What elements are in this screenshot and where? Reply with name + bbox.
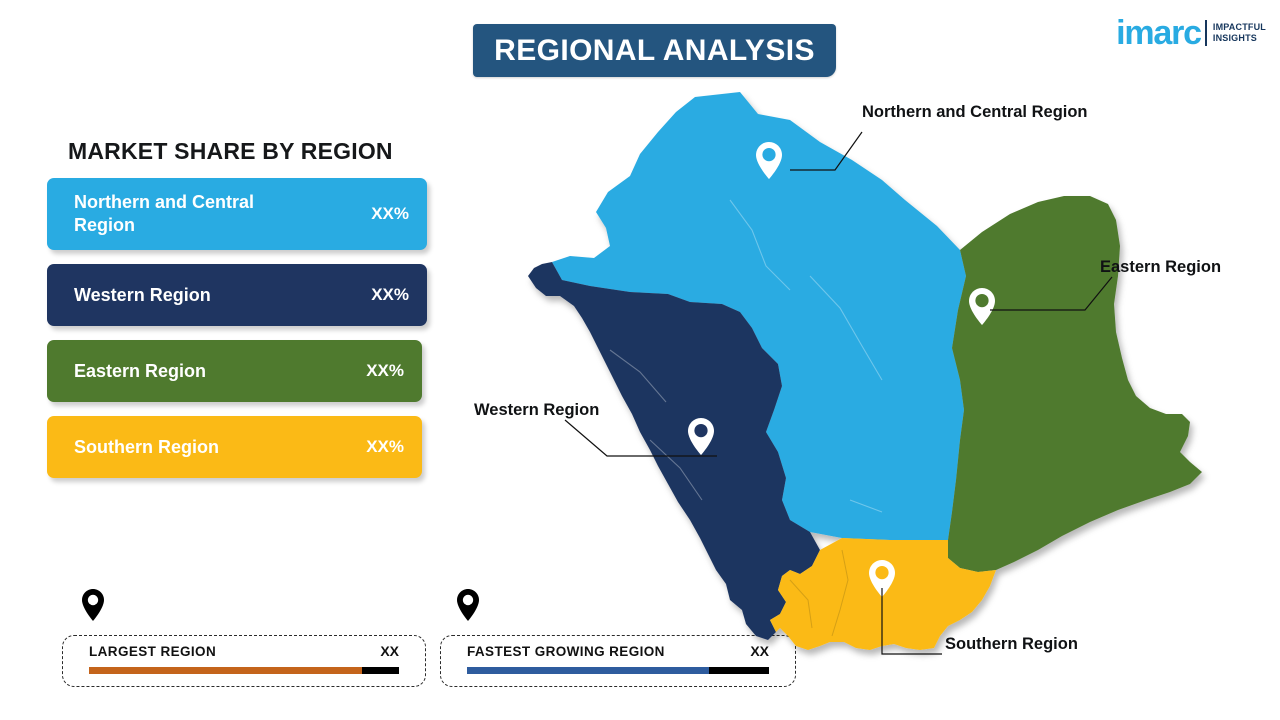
legend-item-value: XX% [371, 285, 409, 305]
page-title: REGIONAL ANALYSIS [494, 34, 815, 68]
legend-item-value: XX% [371, 204, 409, 224]
largest-region-row: LARGEST REGION XX [89, 643, 399, 659]
legend-heading: MARKET SHARE BY REGION [68, 138, 393, 165]
leader-line-western [565, 420, 725, 480]
map-pin-icon [80, 588, 106, 622]
legend-item-eastern[interactable]: Eastern Region XX% [47, 340, 422, 402]
region-eastern[interactable] [948, 196, 1202, 572]
map-pin-icon [455, 588, 481, 622]
legend-bar-list: Northern and Central Region XX% Western … [47, 178, 427, 492]
legend-item-label: Northern and Central Region [74, 191, 319, 237]
legend-item-southern[interactable]: Southern Region XX% [47, 416, 422, 478]
slide-canvas: REGIONAL ANALYSIS imarc IMPACTFUL INSIGH… [0, 0, 1280, 720]
callout-western: Western Region [474, 401, 599, 420]
page-title-banner: REGIONAL ANALYSIS [473, 24, 836, 77]
fastest-growing-region-meter-fill [467, 667, 709, 674]
legend-item-label: Western Region [74, 284, 211, 307]
legend-item-northern-central[interactable]: Northern and Central Region XX% [47, 178, 427, 250]
logo-tagline: IMPACTFUL INSIGHTS [1213, 22, 1266, 44]
legend-item-western[interactable]: Western Region XX% [47, 264, 427, 326]
logo-tagline-line2: INSIGHTS [1213, 33, 1266, 44]
legend-item-value: XX% [366, 361, 404, 381]
callout-northern-central: Northern and Central Region [862, 103, 1088, 122]
largest-region-meter [89, 667, 399, 674]
logo-wordmark: imarc [1116, 18, 1201, 48]
largest-region-meter-fill [89, 667, 362, 674]
leader-line-southern [880, 588, 960, 668]
legend-item-label: Eastern Region [74, 360, 206, 383]
legend-item-value: XX% [366, 437, 404, 457]
fastest-growing-region-meter [467, 667, 769, 674]
callout-eastern: Eastern Region [1100, 258, 1221, 277]
imarc-logo: imarc IMPACTFUL INSIGHTS [1116, 18, 1266, 48]
callout-southern: Southern Region [945, 635, 1078, 654]
largest-region-card: LARGEST REGION XX [62, 635, 426, 687]
logo-divider [1205, 20, 1207, 46]
logo-tagline-line1: IMPACTFUL [1213, 22, 1266, 33]
largest-region-value: XX [380, 643, 399, 659]
largest-region-label: LARGEST REGION [89, 644, 216, 659]
legend-item-label: Southern Region [74, 436, 219, 459]
